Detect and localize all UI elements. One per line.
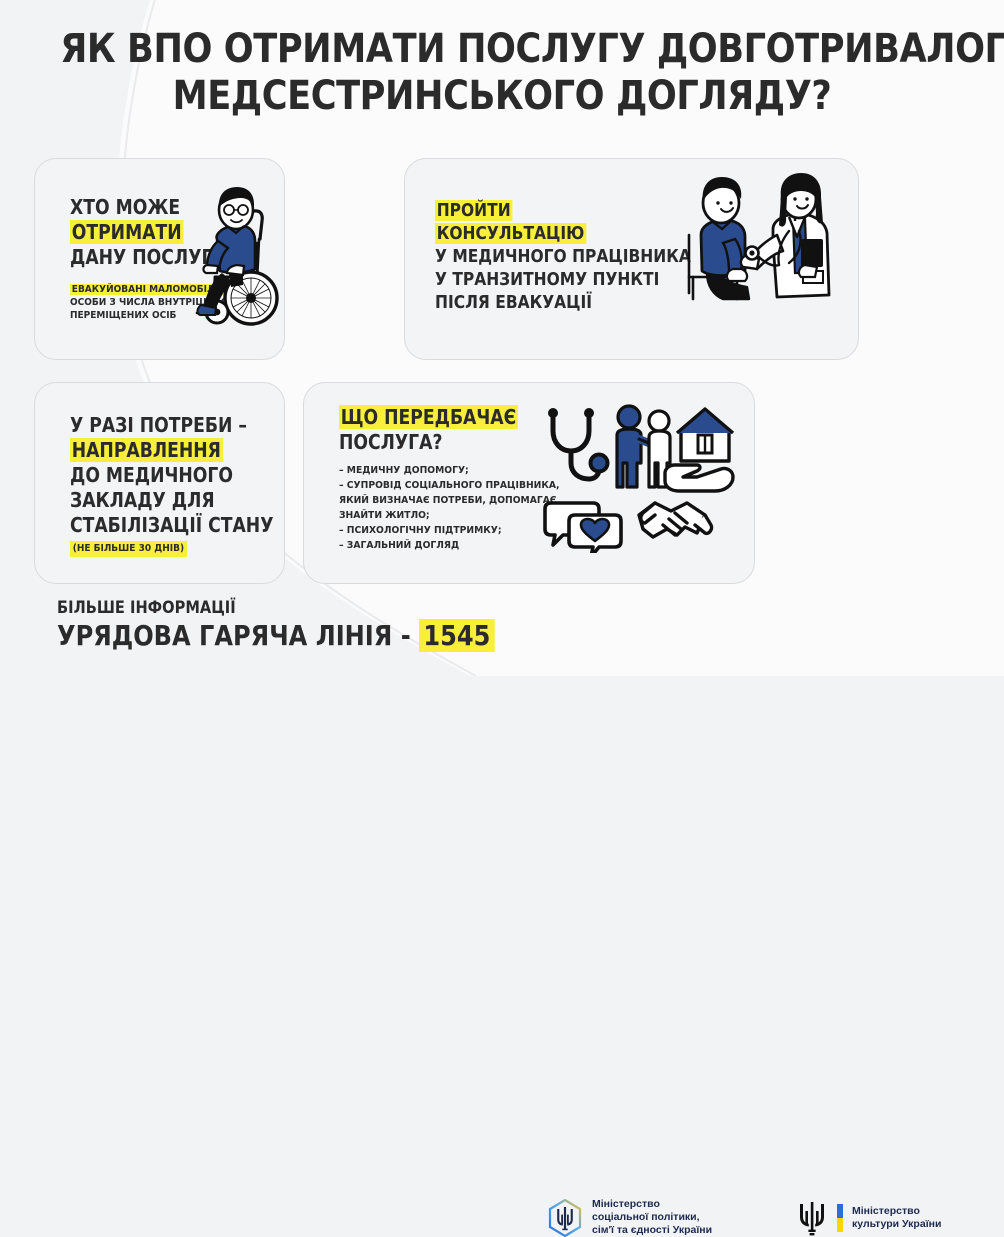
trident-emblem — [797, 1200, 827, 1236]
logo-social-line-3: сім'ї та єдності України — [592, 1224, 712, 1237]
who-subtext-line-3: ПЕРЕМІЩЕНИХ ОСІБ — [70, 310, 176, 321]
house-in-hand-icon — [665, 409, 733, 491]
referral-duration-note-wrap: (НЕ БІЛЬШЕ 30 ДНІВ) — [70, 538, 200, 557]
consultation-line-3: У МЕДИЧНОГО ПРАЦІВНИКА — [435, 246, 691, 267]
referral-line-4: ЗАКЛАДУ ДЛЯ — [70, 488, 215, 512]
list-item: ЗНАЙТИ ЖИТЛО; — [339, 508, 560, 523]
page-title-line-1: ЯК ВПО ОТРИМАТИ ПОСЛУГУ ДОВГОТРИВАЛОГО — [60, 26, 944, 73]
logo-ministry-culture: Міністерство культури України — [797, 1200, 941, 1236]
list-item: – СУПРОВІД СОЦІАЛЬНОГО ПРАЦІВНИКА, — [339, 478, 560, 493]
logo-culture-line-2: культури України — [852, 1218, 941, 1231]
card-referral: У РАЗІ ПОТРЕБИ – НАПРАВЛЕННЯ ДО МЕДИЧНОГ… — [34, 382, 285, 584]
referral-duration-note: (НЕ БІЛЬШЕ 30 ДНІВ) — [70, 541, 187, 557]
handshake-icon — [639, 503, 712, 537]
who-headline-highlight: ОТРИМАТИ — [70, 220, 183, 244]
referral-headline: У РАЗІ ПОТРЕБИ – НАПРАВЛЕННЯ ДО МЕДИЧНОГ… — [70, 413, 285, 538]
list-item: – МЕДИЧНУ ДОПОМОГУ; — [339, 463, 560, 478]
footer: БІЛЬШЕ ІНФОРМАЦІЇ УРЯДОВА ГАРЯЧА ЛІНІЯ -… — [0, 588, 1004, 676]
logo-social-line-2: соціальної політики, — [592, 1211, 712, 1224]
includes-headline: ЩО ПЕРЕДБАЧАЄ ПОСЛУГА? — [339, 405, 547, 455]
list-item: ЯКИЙ ВИЗНАЧАЄ ПОТРЕБИ, ДОПОМАГАЄ — [339, 493, 560, 508]
person-in-wheelchair-illustration — [175, 181, 283, 331]
referral-highlight: НАПРАВЛЕННЯ — [70, 438, 223, 462]
referral-line-1: У РАЗІ ПОТРЕБИ – — [70, 413, 247, 437]
two-people-icon — [617, 406, 670, 487]
footer-hotline-label: УРЯДОВА ГАРЯЧА ЛІНІЯ - — [57, 619, 411, 652]
card-consultation: ПРОЙТИ КОНСУЛЬТАЦІЮ У МЕДИЧНОГО ПРАЦІВНИ… — [404, 158, 859, 360]
list-item: – ПСИХОЛОГІЧНУ ПІДТРИМКУ; — [339, 523, 560, 538]
consultation-highlight-2: КОНСУЛЬТАЦІЮ — [435, 223, 586, 244]
footer-hotline-number[interactable]: 1545 — [419, 619, 495, 652]
card-who-can-receive: ХТО МОЖЕ ОТРИМАТИ ДАНУ ПОСЛУГУ? ЕВАКУЙОВ… — [34, 158, 285, 360]
includes-highlight: ЩО ПЕРЕДБАЧАЄ — [339, 405, 518, 429]
flag-divider-icon — [837, 1204, 843, 1232]
logo-social-text: Міністерство соціальної політики, сім'ї … — [592, 1198, 712, 1237]
logo-social-line-1: Міністерство — [592, 1198, 712, 1211]
footer-more-info: БІЛЬШЕ ІНФОРМАЦІЇ — [57, 598, 236, 618]
logo-ministry-social-policy: Міністерство соціальної політики, сім'ї … — [548, 1198, 712, 1237]
logo-culture-text: Міністерство культури України — [852, 1205, 941, 1231]
card-what-is-included: ЩО ПЕРЕДБАЧАЄ ПОСЛУГА? – МЕДИЧНУ ДОПОМОГ… — [303, 382, 755, 584]
list-item: – ЗАГАЛЬНИЙ ДОГЛЯД — [339, 538, 560, 553]
who-headline-line-1: ХТО МОЖЕ — [70, 195, 180, 219]
referral-line-5: СТАБІЛІЗАЦІЇ СТАНУ — [70, 513, 273, 537]
consultation-line-4: У ТРАНЗИТНОМУ ПУНКТІ — [435, 269, 659, 290]
speech-bubbles-heart-icon — [545, 503, 621, 553]
referral-line-3: ДО МЕДИЧНОГО — [70, 463, 233, 487]
doctor-examining-patient-illustration — [677, 173, 849, 305]
footer-hotline: УРЯДОВА ГАРЯЧА ЛІНІЯ - 1545 — [57, 619, 495, 653]
includes-line-2: ПОСЛУГА? — [339, 430, 442, 454]
consultation-line-5: ПІСЛЯ ЕВАКУАЦІЇ — [435, 292, 592, 313]
page-title: ЯК ВПО ОТРИМАТИ ПОСЛУГУ ДОВГОТРИВАЛОГО М… — [0, 26, 1004, 120]
consultation-highlight-1: ПРОЙТИ — [435, 200, 512, 221]
logo-culture-line-1: Міністерство — [852, 1205, 941, 1218]
trident-hexagon-emblem — [548, 1199, 582, 1237]
page-title-line-2: МЕДСЕСТРИНСЬКОГО ДОГЛЯДУ? — [60, 73, 944, 120]
service-icons-illustration — [539, 403, 739, 553]
